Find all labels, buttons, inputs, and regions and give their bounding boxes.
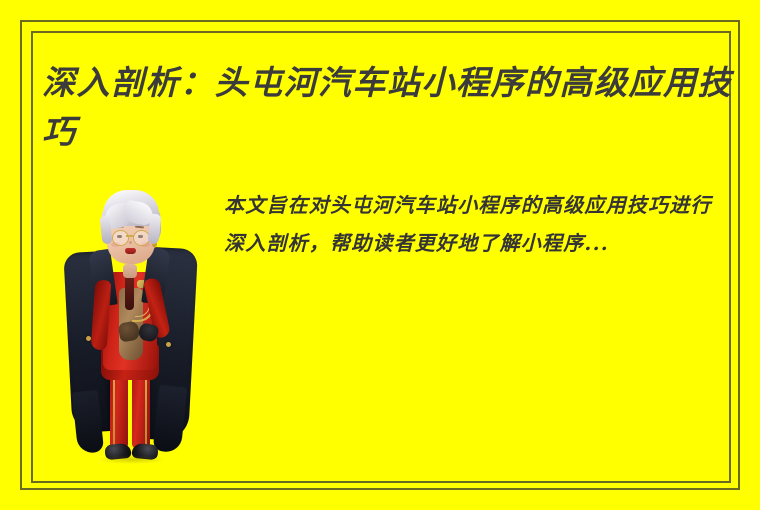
hair-sideburn-right <box>147 214 161 245</box>
poster-canvas: 深入剖析：头屯河汽车站小程序的高级应用技巧 本文旨在对头屯河汽车站小程序的高级应… <box>0 0 760 510</box>
coat-button-3 <box>166 342 171 347</box>
character-illustration <box>63 176 198 476</box>
article-title: 深入剖析：头屯河汽车站小程序的高级应用技巧 <box>42 58 732 156</box>
coat-tail-right <box>153 385 188 454</box>
nose <box>129 241 132 244</box>
eyeglass-bridge <box>126 235 134 237</box>
ground-shadow <box>99 455 165 464</box>
neck <box>123 264 137 278</box>
eyeglass-lens-left <box>112 230 129 246</box>
article-summary: 本文旨在对头屯河汽车站小程序的高级应用技巧进行深入剖析，帮助读者更好地了解小程序… <box>224 186 729 262</box>
mouth <box>125 248 136 254</box>
